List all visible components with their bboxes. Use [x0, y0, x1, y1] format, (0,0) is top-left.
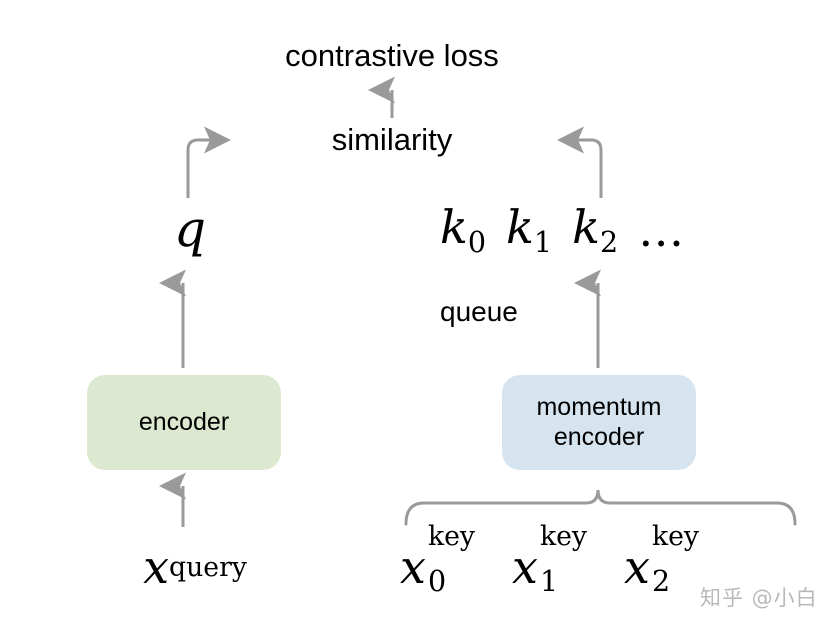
key-feature-0: k0: [440, 200, 486, 259]
similarity-label: similarity: [0, 122, 805, 158]
x-key-2-superscript: key: [652, 521, 699, 552]
x-key-0-superscript: key: [428, 521, 475, 552]
x-key-2-subscript: 2: [652, 565, 670, 598]
momentum-encoder-line-1: momentum: [536, 393, 661, 423]
connector-layer: [0, 0, 826, 634]
x-key-1-superscript: key: [540, 521, 587, 552]
query-feature-symbol: q: [150, 200, 230, 258]
queue-label: queue: [440, 296, 570, 328]
key-features-row: k0k1k2…: [440, 200, 760, 259]
momentum-encoder-line-2: encoder: [536, 423, 661, 453]
key-inputs-brace: [406, 490, 795, 524]
encoder-box-label: encoder: [139, 408, 229, 438]
moco-diagram: contrastive loss similarity q k0k1k2… qu…: [0, 0, 826, 634]
momentum-encoder-box[interactable]: momentum encoder: [502, 375, 696, 470]
x-key-0-subscript: 0: [428, 565, 446, 598]
key-feature-2: k2: [572, 200, 618, 259]
x-query-superscript: query: [169, 552, 247, 583]
contrastive-loss-label: contrastive loss: [0, 38, 805, 74]
x-key-0-base: x: [400, 540, 426, 594]
watermark: 知乎 @小白: [700, 582, 818, 612]
x-query-base: x: [143, 540, 169, 594]
momentum-encoder-box-label: momentum encoder: [536, 393, 661, 452]
key-features-ellipsis: …: [638, 203, 684, 257]
encoder-box[interactable]: encoder: [87, 375, 281, 470]
x-key-1-subscript: 1: [540, 565, 558, 598]
x-key-1-base: x: [512, 540, 538, 594]
x-key-2-base: x: [624, 540, 650, 594]
key-feature-1: k1: [506, 200, 552, 259]
x-query-symbol: xquery: [95, 540, 295, 594]
